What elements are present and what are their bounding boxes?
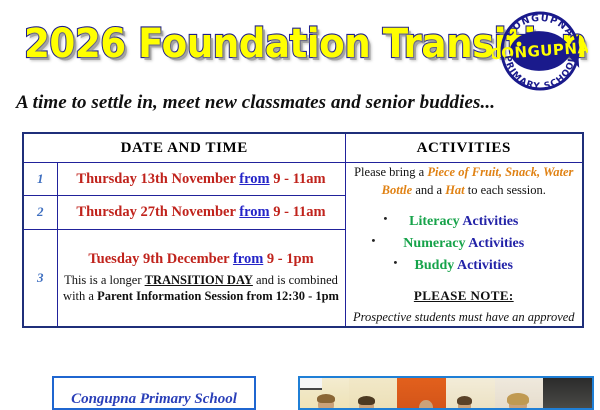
- session-from-link[interactable]: from: [239, 171, 269, 187]
- column-header-activities: ACTIVITIES: [345, 133, 583, 163]
- list-item: •Numeracy Activities: [346, 233, 583, 255]
- please-note-body: Prospective students must have an approv…: [346, 309, 583, 326]
- session-time-text: 9 - 11am: [270, 171, 326, 187]
- bullet-icon: •: [372, 233, 376, 250]
- session-detail-text: This is a longer TRANSITION DAY and is c…: [58, 272, 345, 306]
- row-number: 2: [23, 196, 57, 229]
- session-date-text: Thursday 27th November: [76, 204, 239, 220]
- photo-thumbnail: [495, 378, 544, 408]
- table-row: 1 Thursday 13th November from 9 - 11am P…: [23, 163, 583, 196]
- session-from-link[interactable]: from: [239, 204, 269, 220]
- activities-hat-orange: Hat: [445, 183, 464, 197]
- photo-thumbnail: [446, 378, 495, 408]
- poster-footer: Congupna Primary School: [0, 372, 600, 400]
- photo-thumbnail: [543, 378, 592, 408]
- activities-intro-e: to each session.: [465, 183, 546, 197]
- session-date-text: Thursday 13th November: [76, 171, 239, 187]
- row-number: 3: [23, 229, 57, 327]
- school-name-box: Congupna Primary School: [52, 376, 256, 410]
- list-item: •Literacy Activities: [346, 211, 583, 233]
- activity-name-numeracy: Numeracy: [403, 236, 465, 251]
- session-date-text: Tuesday 9th December: [88, 251, 233, 267]
- bullet-icon: •: [384, 211, 388, 228]
- row-number: 1: [23, 163, 57, 196]
- activity-name-buddy: Buddy: [415, 258, 455, 273]
- poster-tagline: A time to settle in, meet new classmates…: [16, 92, 495, 114]
- photo-thumbnail: [397, 378, 446, 408]
- detail-parent-session: Parent Information Session from 12:30 - …: [97, 289, 339, 303]
- activities-intro-a: Please bring a: [354, 165, 427, 179]
- activity-name-literacy: Literacy: [409, 214, 460, 229]
- poster-header: 2026 Foundation Transition CONGUPNA CONG…: [0, 0, 600, 88]
- photo-thumbnail: [349, 378, 398, 408]
- congupna-primary-school-logo: CONGUPNA CONGUPNA PRIMARY SCHOOL: [492, 4, 588, 96]
- detail-a: This is a longer: [64, 273, 145, 287]
- activities-intro-c: and a: [412, 183, 445, 197]
- activity-suffix: Activities: [460, 214, 519, 229]
- photo-thumbnail: [300, 378, 349, 408]
- column-header-date-and-time: DATE AND TIME: [23, 133, 345, 163]
- student-photo-strip: [298, 376, 594, 410]
- table-header-row: DATE AND TIME ACTIVITIES: [23, 133, 583, 163]
- activity-suffix: Activities: [454, 258, 513, 273]
- detail-transition-day: TRANSITION DAY: [145, 273, 253, 287]
- activities-bullet-list: •Literacy Activities •Numeracy Activitie…: [346, 211, 583, 276]
- session-time-text: 9 - 11am: [270, 204, 326, 220]
- session-date-cell: Tuesday 9th December from 9 - 1pm This i…: [57, 229, 345, 327]
- footer-school-name: Congupna Primary School: [54, 378, 254, 407]
- session-date-cell: Thursday 13th November from 9 - 11am: [57, 163, 345, 196]
- please-note-label: PLEASE NOTE:: [346, 288, 583, 304]
- bullet-icon: •: [394, 255, 398, 272]
- session-time-text: 9 - 1pm: [263, 251, 313, 267]
- activities-cell: Please bring a Piece of Fruit, Snack, Wa…: [345, 163, 583, 328]
- transition-schedule-table: DATE AND TIME ACTIVITIES 1 Thursday 13th…: [22, 132, 584, 328]
- activities-intro: Please bring a Piece of Fruit, Snack, Wa…: [346, 163, 583, 199]
- session-from-link[interactable]: from: [233, 251, 263, 267]
- session-date-cell: Thursday 27th November from 9 - 11am: [57, 196, 345, 229]
- list-item: •Buddy Activities: [346, 255, 583, 277]
- activity-suffix: Activities: [466, 236, 525, 251]
